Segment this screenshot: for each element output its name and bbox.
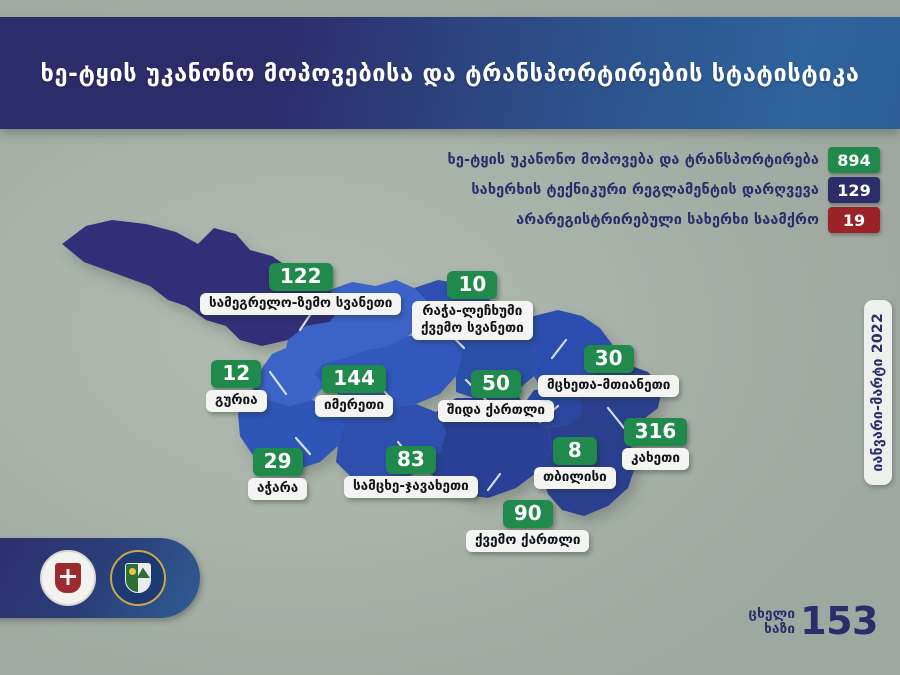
period-text: იანვარი-მარტი 2022 xyxy=(870,313,886,472)
pin-value: 316 xyxy=(624,418,688,446)
map-pin-samtskhe: 83 სამცხე-ჯავახეთი xyxy=(344,446,478,498)
map-pin-shida-kartli: 50 შიდა ქართლი xyxy=(438,370,554,422)
pin-value: 50 xyxy=(471,370,521,398)
pin-label: რაჭა-ლეჩხუმი ქვემო სვანეთი xyxy=(412,301,533,340)
header-banner: ხე-ტყის უკანონო მოპოვებისა და ტრანსპორტი… xyxy=(0,17,900,129)
pin-label: იმერეთი xyxy=(315,395,393,417)
map-pin-kvemo-kartli: 90 ქვემო ქართლი xyxy=(466,500,589,552)
legend-row: ხე-ტყის უკანონო მოპოვება და ტრანსპორტირე… xyxy=(447,147,880,173)
georgia-coat-of-arms-seal-icon xyxy=(40,550,96,606)
pin-value: 90 xyxy=(503,500,553,528)
pin-value: 29 xyxy=(253,448,303,476)
map-pin-racha: 10 რაჭა-ლეჩხუმი ქვემო სვანეთი xyxy=(412,271,533,340)
legend-row: არარეგისტრირებული სახერხი საამქრო 19 xyxy=(447,207,880,233)
legend-label: არარეგისტრირებული სახერხი საამქრო xyxy=(516,212,819,228)
legend-badge: 19 xyxy=(828,207,880,233)
legend-label: სახერხის ტექნიკური რეგლამენტის დარღვევა xyxy=(471,182,819,198)
pin-label: ქვემო ქართლი xyxy=(466,530,589,552)
pin-value: 83 xyxy=(386,446,436,474)
map-pin-mtskheta: 30 მცხეთა-მთიანეთი xyxy=(538,345,679,397)
infographic-canvas: ხე-ტყის უკანონო მოპოვებისა და ტრანსპორტი… xyxy=(0,0,900,675)
pin-label: გურია xyxy=(206,390,267,412)
legend-badge: 129 xyxy=(828,177,880,203)
pin-value: 10 xyxy=(447,271,497,299)
pin-label: შიდა ქართლი xyxy=(438,400,554,422)
hotline-number: 153 xyxy=(800,604,878,639)
pin-label: აჭარა xyxy=(248,478,307,500)
pin-label: კახეთი xyxy=(622,448,689,470)
map-pin-guria: 12 გურია xyxy=(206,360,267,412)
hotline-label: ცხელი ხაზი xyxy=(749,607,796,635)
legend-row: სახერხის ტექნიკური რეგლამენტის დარღვევა … xyxy=(447,177,880,203)
pin-label: სამეგრელო-ზემო სვანეთი xyxy=(200,293,401,315)
footer-logo-plate xyxy=(0,538,200,618)
legend: ხე-ტყის უკანონო მოპოვება და ტრანსპორტირე… xyxy=(447,147,880,237)
map-pin-adjara: 29 აჭარა xyxy=(248,448,307,500)
period-label: იანვარი-მარტი 2022 xyxy=(864,300,892,485)
pin-label: მცხეთა-მთიანეთი xyxy=(538,375,679,397)
map-pin-samegrelo: 122 სამეგრელო-ზემო სვანეთი xyxy=(200,263,401,315)
legend-badge: 894 xyxy=(828,147,880,173)
page-title: ხე-ტყის უკანონო მოპოვებისა და ტრანსპორტი… xyxy=(41,59,860,87)
pin-label: სამცხე-ჯავახეთი xyxy=(344,476,478,498)
pin-label: თბილისი xyxy=(534,467,616,489)
map-pin-imereti: 144 იმერეთი xyxy=(315,365,393,417)
pin-value: 30 xyxy=(584,345,634,373)
map-pin-tbilisi: 8 თბილისი xyxy=(534,437,616,489)
environment-ministry-seal-icon xyxy=(110,550,166,606)
pin-value: 8 xyxy=(553,437,597,465)
legend-label: ხე-ტყის უკანონო მოპოვება და ტრანსპორტირე… xyxy=(447,152,819,168)
hotline: ცხელი ხაზი 153 xyxy=(749,604,879,639)
map-pin-kakheti: 316 კახეთი xyxy=(622,418,689,470)
pin-value: 144 xyxy=(322,365,386,393)
pin-value: 122 xyxy=(269,263,333,291)
pin-value: 12 xyxy=(211,360,261,388)
